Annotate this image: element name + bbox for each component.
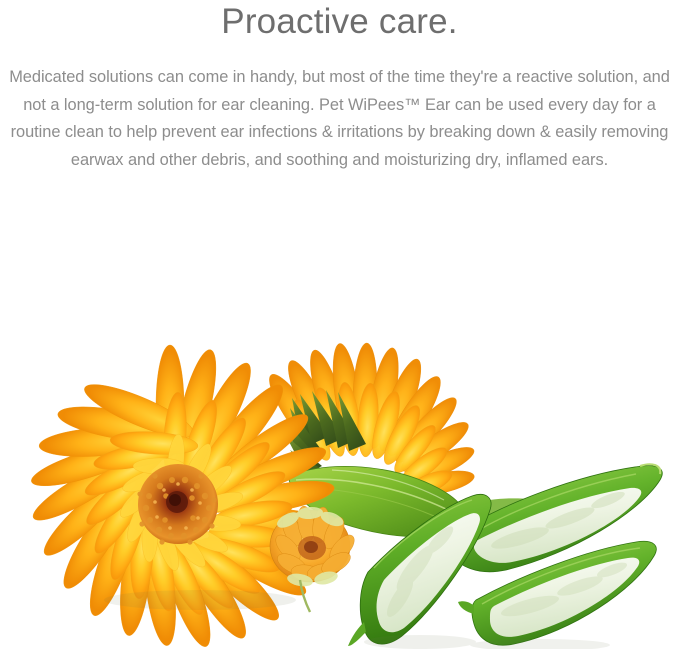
photo-illustration — [0, 208, 679, 649]
product-ingredients-photo — [0, 208, 679, 649]
text-block: Proactive care. Medicated solutions can … — [0, 0, 679, 174]
proactive-care-section: Proactive care. Medicated solutions can … — [0, 0, 679, 649]
body-paragraph: Medicated solutions can come in handy, b… — [0, 44, 679, 174]
page-title: Proactive care. — [0, 0, 679, 44]
